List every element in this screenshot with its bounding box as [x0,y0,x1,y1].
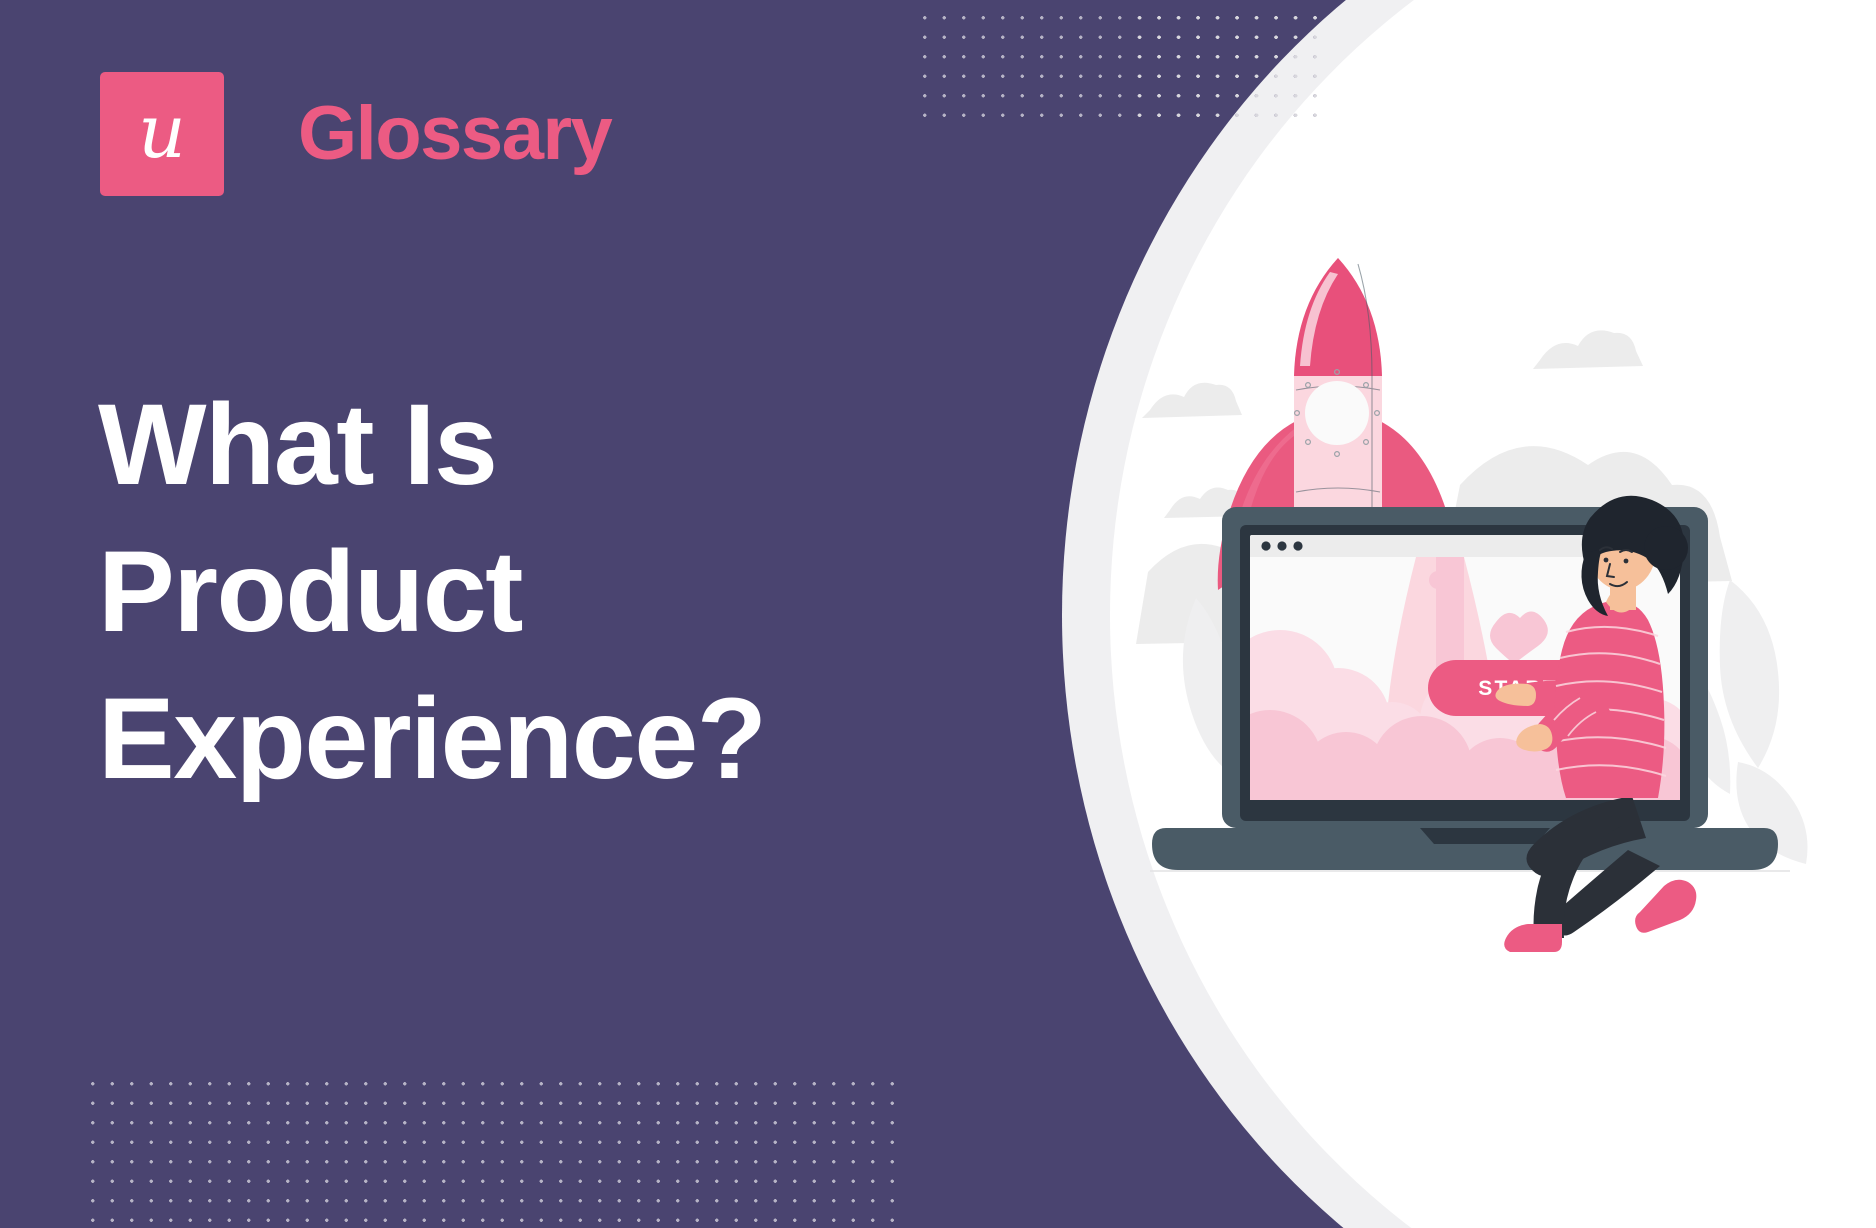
page-title: What Is Product Experience? [98,372,898,814]
person-shoe-back [1504,924,1562,952]
rocket-window [1305,381,1369,445]
userpilot-u-logo-icon: u [100,72,224,196]
dot-grid-bottom-left [83,1074,901,1228]
laptop-notch [1420,828,1550,844]
browser-dot-3 [1293,541,1302,550]
browser-dot-1 [1261,541,1270,550]
person-shoe-front [1635,880,1696,933]
rocket-launch-laptop-illustration: START [1130,250,1830,970]
brand-row: u Glossary [100,72,611,196]
logo-glyph: u [138,95,186,169]
laptop: START [1150,507,1790,871]
slide-canvas: u Glossary What Is Product Experience? [0,0,1876,1228]
person-hair-bun [1644,526,1688,570]
browser-dot-2 [1277,541,1286,550]
brand-name: Glossary [298,96,611,172]
